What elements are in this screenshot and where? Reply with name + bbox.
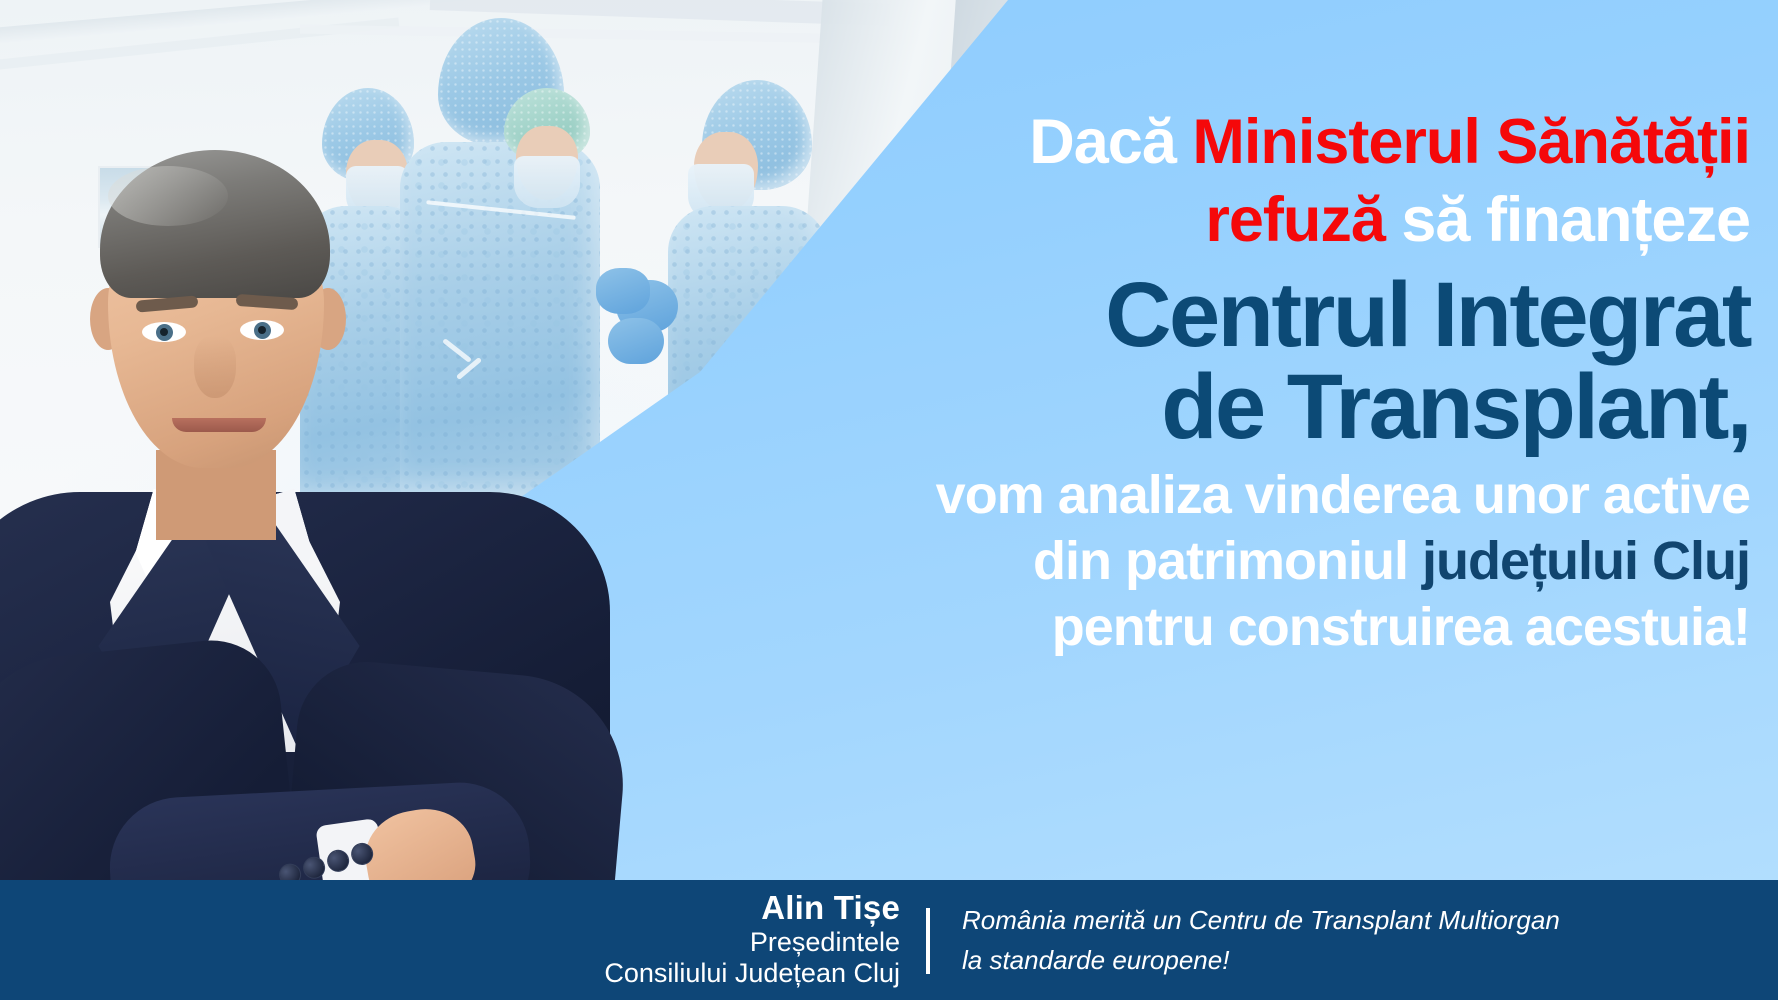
mouth [172,418,266,432]
vertical-divider [926,908,930,974]
headline-block: Dacă Ministerul Sănătății refuză să fina… [690,110,1750,656]
headline-line-6-navy: județului Cluj [1422,531,1750,591]
headline-line-1-red: Ministerul Sănătății [1192,107,1750,177]
person-role-line-1: Președintele [430,927,900,959]
eye [240,320,284,340]
eye [142,322,186,342]
headline-line-2-red: refuză [1205,185,1385,255]
campaign-poster: Dacă Ministerul Sănătății refuză să fina… [0,0,1778,1000]
hair [100,150,330,298]
headline-line-7: pentru construirea acestuia! [690,599,1750,655]
nose [194,336,236,398]
headline-line-4: de Transplant, [690,361,1750,453]
quote-line-2: la standarde europene! [962,940,1762,980]
headline-line-2: refuză să finanțeze [690,188,1750,254]
headline-line-6: din patrimoniul județului Cluj [690,533,1750,589]
portrait-alin-tise [0,150,630,1000]
headline-line-1: Dacă Ministerul Sănătății [690,110,1750,176]
person-identity-block: Alin Tișe Președintele Consiliului Județ… [430,890,900,991]
person-name: Alin Tișe [430,890,900,927]
headline-line-2-white: să finanțeze [1385,185,1750,255]
headline-line-5: vom analiza vinderea unor active [690,467,1750,523]
footer-bar: Alin Tișe Președintele Consiliului Județ… [0,880,1778,1000]
headline-line-1-white: Dacă [1029,107,1192,177]
person-role-line-2: Consiliului Județean Cluj [430,958,900,990]
quote-block: România merită un Centru de Transplant M… [962,900,1762,981]
headline-line-3: Centrul Integrat [690,269,1750,361]
headline-line-6-white: din patrimoniul [1033,531,1422,591]
quote-line-1: România merită un Centru de Transplant M… [962,900,1762,940]
